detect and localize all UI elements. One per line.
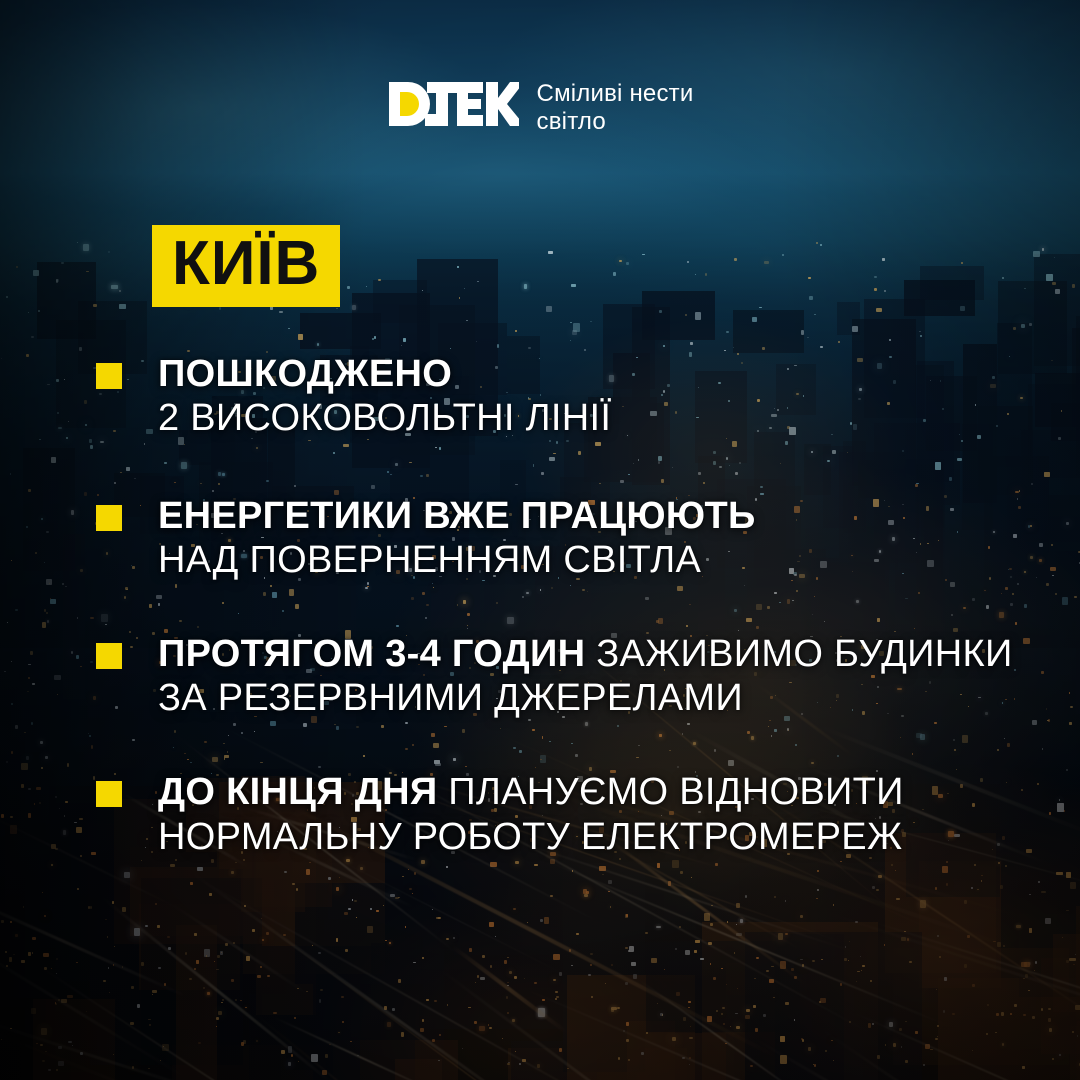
- list-item: ДО КІНЦЯ ДНЯ ПЛАНУЄМО ВІДНОВИТИ НОРМАЛЬН…: [96, 770, 1040, 858]
- bullet-text-2: ЕНЕРГЕТИКИ ВЖЕ ПРАЦЮЮТЬ НАД ПОВЕРНЕННЯМ …: [158, 494, 1040, 582]
- city-badge: КИЇВ: [152, 225, 340, 307]
- bullet-list: ПОШКОДЖЕНО 2 ВИСОКОВОЛЬТНІ ЛІНІЇ ЕНЕРГЕТ…: [96, 352, 1040, 905]
- brand-header: Сміливі нести світло: [0, 78, 1080, 137]
- dtek-logo-icon[interactable]: [387, 78, 519, 130]
- poster-canvas: Сміливі нести світло КИЇВ ПОШКОДЖЕНО 2 В…: [0, 0, 1080, 1080]
- square-bullet-icon: [96, 505, 122, 531]
- square-bullet-icon: [96, 363, 122, 389]
- bullet-emphasis-4: ДО КІНЦЯ ДНЯ: [158, 771, 437, 813]
- bullet-text-1: ПОШКОДЖЕНО 2 ВИСОКОВОЛЬТНІ ЛІНІЇ: [158, 352, 1040, 440]
- bullet-emphasis-1: ПОШКОДЖЕНО: [158, 353, 452, 395]
- bullet-text-4: ДО КІНЦЯ ДНЯ ПЛАНУЄМО ВІДНОВИТИ НОРМАЛЬН…: [158, 770, 1040, 858]
- square-bullet-icon: [96, 781, 122, 807]
- bullet-emphasis-3: ПРОТЯГОМ 3-4 ГОДИН: [158, 633, 585, 675]
- square-bullet-icon: [96, 643, 122, 669]
- list-item: ПРОТЯГОМ 3-4 ГОДИН ЗАЖИВИМО БУДИНКИ ЗА Р…: [96, 632, 1040, 720]
- bullet-emphasis-2: ЕНЕРГЕТИКИ ВЖЕ ПРАЦЮЮТЬ: [158, 495, 756, 537]
- bullet-rest-1: 2 ВИСОКОВОЛЬТНІ ЛІНІЇ: [158, 397, 611, 439]
- bullet-text-3: ПРОТЯГОМ 3-4 ГОДИН ЗАЖИВИМО БУДИНКИ ЗА Р…: [158, 632, 1040, 720]
- bullet-rest-2: НАД ПОВЕРНЕННЯМ СВІТЛА: [158, 539, 701, 581]
- city-badge-label: КИЇВ: [172, 233, 320, 295]
- brand-tagline: Сміливі нести світло: [537, 80, 694, 137]
- list-item: ПОШКОДЖЕНО 2 ВИСОКОВОЛЬТНІ ЛІНІЇ: [96, 352, 1040, 440]
- list-item: ЕНЕРГЕТИКИ ВЖЕ ПРАЦЮЮТЬ НАД ПОВЕРНЕННЯМ …: [96, 494, 1040, 582]
